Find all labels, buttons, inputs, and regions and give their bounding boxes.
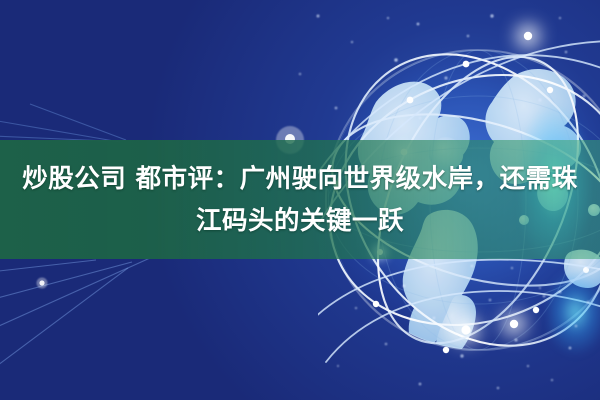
headline-block: 炒股公司 都市评：广州驶向世界级水岸，还需珠 江码头的关键一跃 (0, 140, 600, 259)
globe-rim-flare-lower (548, 258, 600, 378)
headline-line-1: 炒股公司 都市评：广州驶向世界级水岸，还需珠 (22, 160, 577, 198)
headline-line-2: 江码头的关键一跃 (196, 202, 404, 240)
banner-image: 炒股公司 都市评：广州驶向世界级水岸，还需珠 江码头的关键一跃 (0, 0, 600, 400)
